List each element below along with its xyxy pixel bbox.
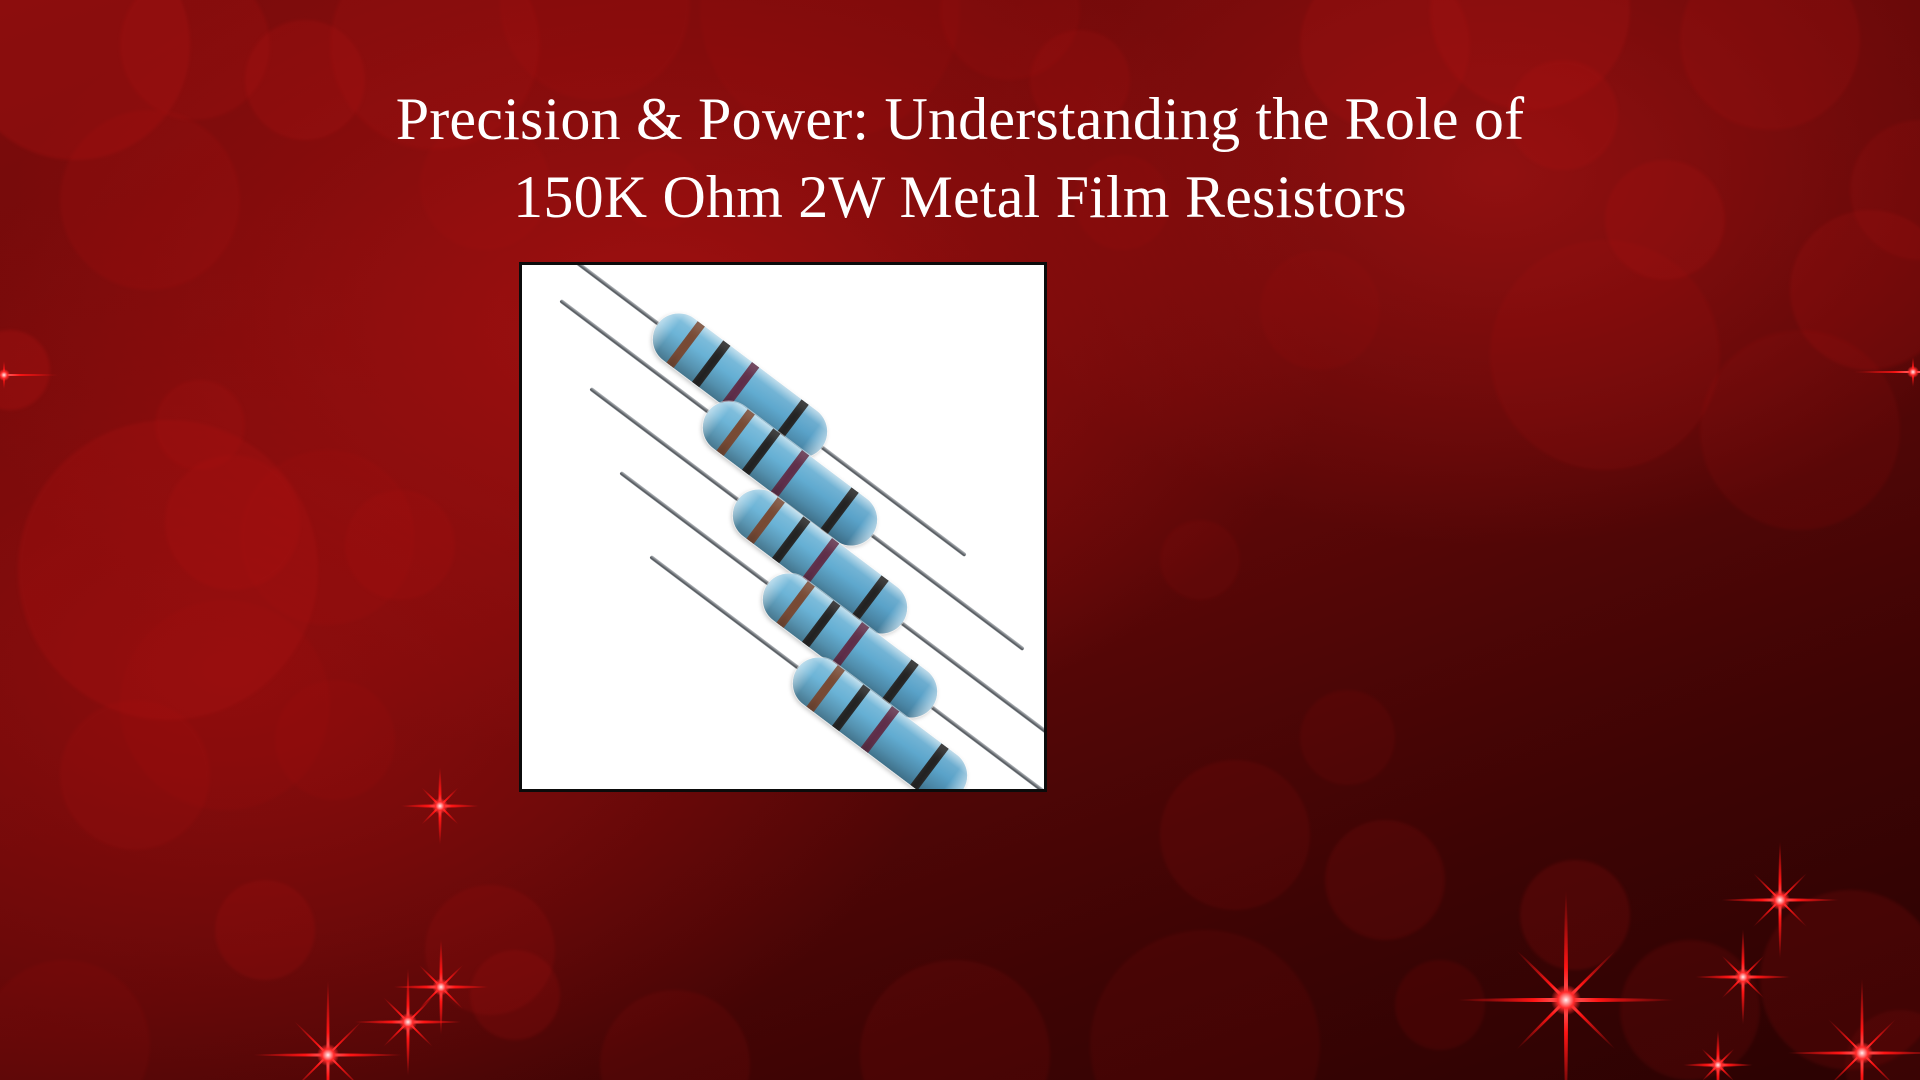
bokeh-circle: [470, 950, 560, 1040]
bokeh-circle: [1325, 820, 1445, 940]
bokeh-circle: [0, 960, 150, 1080]
resistors-image-frame[interactable]: [519, 262, 1047, 792]
bokeh-circle: [1160, 760, 1310, 910]
slide-canvas: Precision & Power: Understanding the Rol…: [0, 0, 1920, 1080]
bokeh-circle: [60, 110, 240, 290]
resistor-band-black: [742, 428, 780, 475]
bokeh-circle: [1300, 690, 1395, 785]
bokeh-circle: [860, 960, 1050, 1080]
bokeh-circle: [1160, 520, 1240, 600]
resistor-group: [522, 265, 1044, 789]
title-line-1: Precision & Power: Understanding the Rol…: [290, 80, 1630, 158]
bokeh-circle: [215, 880, 315, 980]
bokeh-circle: [1090, 930, 1320, 1080]
bokeh-circle: [60, 700, 210, 850]
resistor-band-purple: [861, 706, 899, 753]
resistor-band-black: [820, 487, 858, 534]
resistor-band-brown: [716, 409, 754, 456]
bokeh-circle: [1620, 940, 1760, 1080]
bokeh-circle: [1490, 240, 1720, 470]
bokeh-circle: [345, 490, 455, 600]
resistor-band-black: [832, 684, 870, 731]
bokeh-circle: [600, 990, 750, 1080]
bokeh-circle: [1680, 0, 1860, 130]
bokeh-circle: [1395, 960, 1485, 1050]
resistor-band-black: [910, 743, 948, 789]
resistors-photo: [522, 265, 1044, 789]
slide-title: Precision & Power: Understanding the Rol…: [290, 80, 1630, 236]
resistor-band-brown: [806, 665, 844, 712]
bokeh-circle: [1260, 250, 1380, 370]
bokeh-circle: [1700, 330, 1900, 530]
resistor-band-purple: [771, 450, 809, 497]
bokeh-circle: [155, 380, 245, 470]
title-line-2: 150K Ohm 2W Metal Film Resistors: [290, 158, 1630, 236]
bokeh-circle: [275, 680, 395, 800]
bokeh-circle: [1520, 860, 1630, 970]
